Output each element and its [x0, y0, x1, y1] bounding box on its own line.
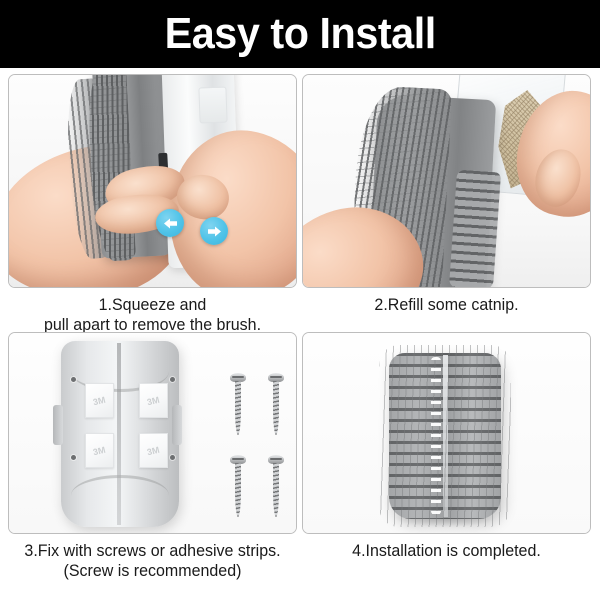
brush-vent-slots: [449, 170, 501, 288]
adhesive-pad: 3M: [85, 383, 114, 418]
caption-line: 2.Refill some catnip.: [306, 295, 586, 315]
steps-grid: 1.Squeeze and pull apart to remove the b…: [0, 68, 600, 600]
screw: [230, 373, 246, 435]
screw-shaft: [235, 463, 241, 517]
step-4: 4.Installation is completed.: [302, 332, 591, 561]
page-title: Easy to Install: [164, 12, 435, 56]
screw-hole: [170, 455, 175, 460]
step-4-photo: [302, 332, 591, 534]
screw-slot: [270, 458, 282, 460]
screw-slot: [270, 376, 282, 378]
adhesive-pad-label: 3M: [92, 394, 107, 407]
caption-line: (Screw is recommended): [12, 561, 292, 581]
step-2-photo: [302, 74, 591, 288]
step-2-caption: 2.Refill some catnip.: [306, 295, 586, 315]
bracket-tab-right: [172, 405, 182, 445]
caption-line: 4.Installation is completed.: [306, 541, 586, 561]
screw-hole: [71, 377, 76, 382]
step-4-caption: 4.Installation is completed.: [306, 541, 586, 561]
caption-line: 1.Squeeze and: [12, 295, 292, 315]
screw: [268, 373, 284, 435]
adhesive-pad-label: 3M: [146, 394, 161, 407]
screw: [230, 455, 246, 517]
bracket-center-ridge: [117, 343, 121, 525]
brush-bristles: [379, 345, 511, 527]
step-1-caption: 1.Squeeze and pull apart to remove the b…: [12, 295, 292, 335]
brush-highlight-dots: [431, 357, 441, 515]
adhesive-pad-label: 3M: [92, 444, 107, 457]
screw-shaft: [273, 463, 279, 517]
title-band: Easy to Install: [0, 0, 600, 68]
screw-shaft: [235, 381, 241, 435]
screw-hole: [170, 377, 175, 382]
screw-hole: [71, 455, 76, 460]
arrow-left-icon: [156, 209, 184, 237]
bracket-tab-left: [53, 405, 63, 445]
adhesive-pad: 3M: [85, 433, 114, 468]
arrow-right-icon: [200, 217, 228, 245]
adhesive-pad: 3M: [139, 383, 168, 418]
screw-shaft: [273, 381, 279, 435]
step-1: 1.Squeeze and pull apart to remove the b…: [8, 74, 297, 335]
screw: [268, 455, 284, 517]
step-2: 2.Refill some catnip.: [302, 74, 591, 315]
step-3-caption: 3.Fix with screws or adhesive strips. (S…: [12, 541, 292, 581]
adhesive-pad: 3M: [139, 433, 168, 468]
screw-slot: [232, 458, 244, 460]
base-slot: [198, 87, 227, 124]
product-instruction-infographic: Easy to Install: [0, 0, 600, 600]
screw-slot: [232, 376, 244, 378]
step-1-photo: [8, 74, 297, 288]
step-3: 3M 3M 3M 3M: [8, 332, 297, 581]
caption-line: 3.Fix with screws or adhesive strips.: [12, 541, 292, 561]
adhesive-pad-label: 3M: [146, 444, 161, 457]
step-3-photo: 3M 3M 3M 3M: [8, 332, 297, 534]
